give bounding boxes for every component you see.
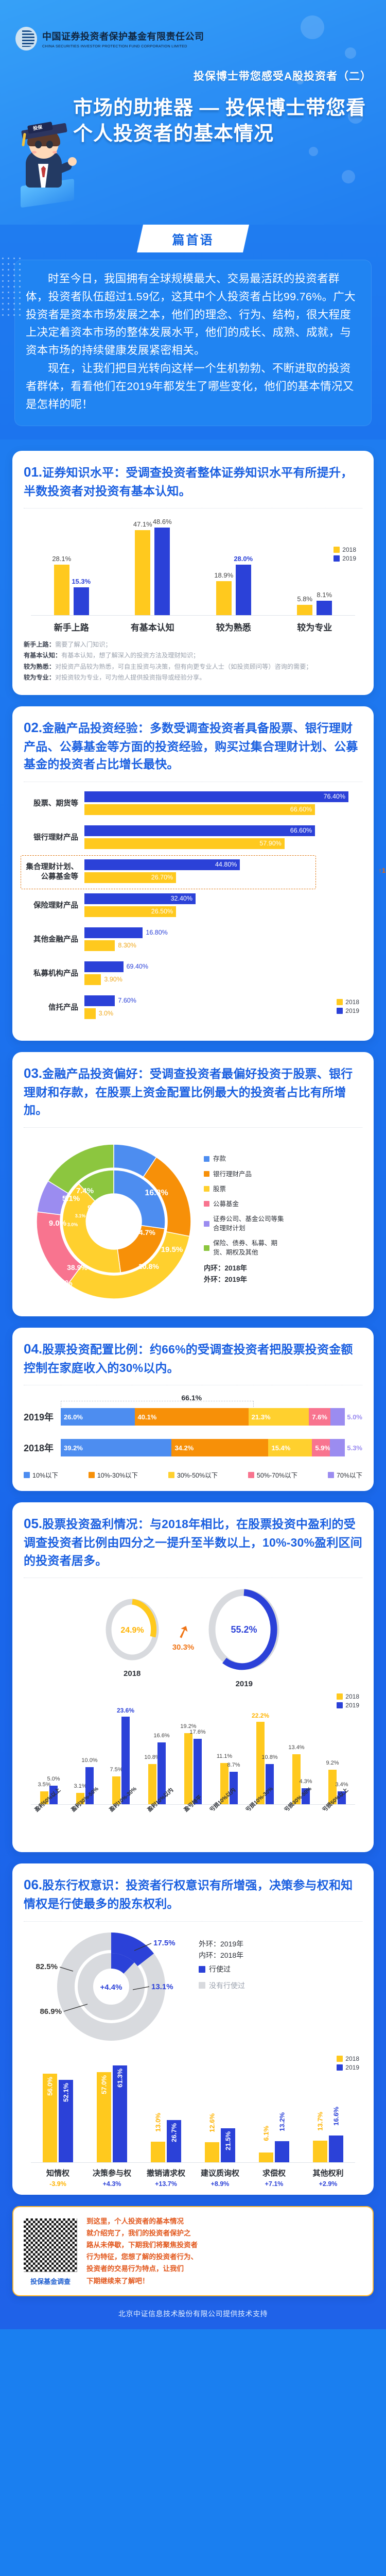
donut-center-label: +4.4% bbox=[100, 1983, 122, 1992]
bar-row: 其他金融产品 16.80% 8.30% bbox=[24, 927, 362, 953]
donut-year: 2019 bbox=[205, 1680, 283, 1688]
slice-label: 20.8% bbox=[138, 1262, 159, 1270]
slice-label: 7.4% bbox=[76, 1187, 94, 1195]
slice-label: 3.0% bbox=[67, 1222, 78, 1227]
hero-header: 中国证券投资者保护基金有限责任公司 CHINA SECURITIES INVES… bbox=[0, 0, 386, 242]
footer-cta: 投保基金调查 到这里，个人投资者的基本情况 就介绍完了，我们的投资者保护之 路从… bbox=[12, 2206, 374, 2296]
divider bbox=[24, 1578, 362, 1578]
chart-06-rights-bars: 56.0% 52.1% 57.0% 61.3% 13.0% 26.7% 12.6… bbox=[24, 2065, 362, 2183]
ring-note: 内环：2018年 外环：2019年 bbox=[204, 1263, 285, 1285]
section-02-title: 02.金融产品投资经验：多数受调查投资者具备股票、银行理财产品、公募基金等方面的… bbox=[24, 718, 362, 773]
copyright-line: 北京中证信息技术股份有限公司提供技术支持 bbox=[0, 2301, 386, 2329]
decorative-bubble bbox=[345, 47, 356, 59]
slice-label: 24.7% bbox=[135, 1228, 155, 1236]
intro-chip: 篇首语 bbox=[137, 225, 249, 252]
chart-06-xaxis: 知情权 决策参与权 撤销请求权 建议质询权 求偿权 其他权利 bbox=[31, 2167, 355, 2178]
brace-annotation: 66.1% bbox=[61, 1396, 362, 1407]
bar-row-highlighted: 集合理财计划、公募基金等 44.80% 26.70% ↑18.10% bbox=[24, 859, 362, 885]
slice-label: 17.5% bbox=[153, 1939, 176, 1947]
donut-2019: 55.2% 2019 bbox=[205, 1587, 283, 1688]
intro-paragraph-2: 现在，让我们把目光转向这样一个生机勃勃、不断进取的投资者群体，看看他们在2019… bbox=[26, 360, 360, 413]
infographic-page: 中国证券投资者保护基金有限责任公司 CHINA SECURITIES INVES… bbox=[0, 0, 386, 2329]
decorative-bubble bbox=[342, 170, 355, 183]
org-name-en: CHINA SECURITIES INVESTOR PROTECTION FUN… bbox=[42, 44, 204, 48]
divider bbox=[24, 1385, 362, 1385]
bar-group: 13.0% 26.7% bbox=[151, 2120, 181, 2162]
donut-chart-03: 16.8% 19.5% 42.2% 9.0% 5.1% 7.4% 24.7% 2… bbox=[24, 1135, 204, 1305]
legend-02: 2018 2019 bbox=[337, 998, 359, 1016]
slice-label: 19.5% bbox=[161, 1245, 183, 1254]
slice-label: 38.9% bbox=[67, 1263, 87, 1272]
legend-06: 外环：2019年 内环：2018年 行使过 没有行使过 bbox=[199, 1929, 245, 1996]
chart-01-knowledge: 28.1% 15.3% 47.1% 48.6% 18.9% 28.0% 5.8%… bbox=[24, 522, 362, 635]
legend-03: 存款 银行理财产品 股票 公募基金 证券公司、基金公司等集合理财计划 保险、债券… bbox=[204, 1154, 285, 1285]
stacked-row: 2018年 39.2% 34.2% 15.4% 5.9% 5.3% bbox=[24, 1439, 362, 1456]
bar-group: 13.7% 16.6% bbox=[313, 2136, 343, 2162]
slice-label: 86.9% bbox=[40, 2007, 62, 2016]
bar-row: 信托产品 7.60% 3.0% bbox=[24, 995, 362, 1021]
section-card-02: 02.金融产品投资经验：多数受调查投资者具备股票、银行理财产品、公募基金等方面的… bbox=[12, 706, 374, 1041]
donut-value: 55.2% bbox=[231, 1624, 257, 1635]
page-title: 市场的助推器 — 投保博士带您看 个人投资者的基本情况 bbox=[73, 95, 377, 147]
section-04-title: 04.股票投资配置比例：约66%的受调查投资者把股票投资金额控制在家庭收入的30… bbox=[24, 1339, 362, 1377]
bar-group: 57.0% 61.3% bbox=[97, 2065, 127, 2162]
intro-card: 时至今日，我国拥有全球规模最大、交易最活跃的投资者群体，投资者队伍超过1.59亿… bbox=[14, 260, 372, 426]
chart-02-experience: 股票、期货等 76.40% 66.60% 银行理财产品 66.60% 57.90… bbox=[24, 791, 362, 1021]
slice-label: 82.5% bbox=[36, 1962, 58, 1971]
donut-year: 2018 bbox=[103, 1669, 161, 1678]
divider bbox=[24, 1127, 362, 1128]
section-card-04: 04.股票投资配置比例：约66%的受调查投资者把股票投资金额控制在家庭收入的30… bbox=[12, 1328, 374, 1492]
bar-row: 私募机构产品 69.40% 3.90% bbox=[24, 961, 362, 987]
bar-group: 47.1% 48.6% bbox=[135, 528, 170, 615]
chart-03-preference: 16.8% 19.5% 42.2% 9.0% 5.1% 7.4% 24.7% 2… bbox=[24, 1135, 362, 1305]
qr-caption: 投保基金调查 bbox=[22, 2276, 79, 2286]
slice-label: 5.1% bbox=[62, 1194, 80, 1203]
legend-04: 10%以下 10%-30%以下 30%-50%以下 50%-70%以下 70%以… bbox=[24, 1470, 362, 1480]
slice-label: 3.1% bbox=[75, 1213, 86, 1218]
divider bbox=[24, 508, 362, 509]
intro-section: 篇首语 时至今日，我国拥有全球规模最大、交易最活跃的投资者群体，投资者队伍超过1… bbox=[0, 225, 386, 439]
org-name-cn: 中国证券投资者保护基金有限责任公司 bbox=[42, 29, 204, 43]
bar-row: 股票、期货等 76.40% 66.60% bbox=[24, 791, 362, 817]
section-01-note: 新手上路：需要了解入门知识； 有基本认知：有基本认知，想了解深入的投资方法及理财… bbox=[24, 639, 362, 683]
bar-group: 56.0% 52.1% bbox=[43, 2074, 73, 2162]
bar-group: 19.2% 17.6% bbox=[184, 1733, 202, 1804]
section-card-03: 03.金融产品投资偏好：受调查投资者最偏好投资于股票、银行理财和存款，在股票上资… bbox=[12, 1052, 374, 1316]
logo-icon bbox=[15, 27, 37, 50]
bar-row: 保险理财产品 32.40% 26.50% bbox=[24, 893, 362, 919]
decorative-bubble bbox=[309, 147, 318, 156]
section-card-06: 06.股东行权意识：投资者行权意识有所增强，决策参与权和知情权是行使最多的股东权… bbox=[12, 1863, 374, 2195]
bar-group: 18.9% 28.0% bbox=[216, 565, 251, 615]
stacked-row: 2019年 26.0% 40.1% 21.3% 7.6% 5.0% bbox=[24, 1408, 362, 1426]
chart-01-xaxis: 新手上路 有基本认知 较为熟悉 较为专业 bbox=[31, 620, 355, 633]
donut-chart-06: +4.4% 17.5% 82.5% 13.1% 86.9% bbox=[24, 1929, 199, 2047]
slice-label: 9.5% bbox=[87, 1204, 104, 1212]
divider bbox=[24, 782, 362, 782]
growth-value: 30.3% bbox=[172, 1643, 195, 1652]
section-05-title: 05.股票投资盈利情况：与2018年相比，在股票投资中盈利的受调查投资者比例由四… bbox=[24, 1514, 362, 1569]
chart-05-profit-donuts: 24.9% 2018 ➚ 30.3% 55.2% 2019 bbox=[24, 1587, 362, 1688]
divider bbox=[24, 1921, 362, 1922]
chart-04-allocation: 66.1% 2019年 26.0% 40.1% 21.3% 7.6% 5.0% … bbox=[24, 1396, 362, 1480]
brand-logo: 中国证券投资者保护基金有限责任公司 CHINA SECURITIES INVES… bbox=[15, 27, 204, 50]
section-03-title: 03.金融产品投资偏好：受调查投资者最偏好投资于股票、银行理财和存款，在股票上资… bbox=[24, 1063, 362, 1119]
qr-code[interactable] bbox=[22, 2216, 79, 2274]
legend-05: 2018 2019 bbox=[337, 1693, 359, 1710]
footer-text: 到这里，个人投资者的基本情况 就介绍完了，我们的投资者保护之 路从未停歇，下期我… bbox=[86, 2215, 198, 2287]
section-card-01: 01.证券知识水平：受调查投资者整体证券知识水平有所提升，半数投资者对投资有基本… bbox=[12, 451, 374, 695]
slice-label: 16.8% bbox=[145, 1189, 168, 1197]
slice-label: 42.2% bbox=[49, 1279, 72, 1288]
chart-06-deltas: -3.9% +4.3% +13.7% +8.9% +7.1% +2.9% bbox=[31, 2180, 355, 2188]
section-06-title: 06.股东行权意识：投资者行权意识有所增强，决策参与权和知情权是行使最多的股东权… bbox=[24, 1875, 362, 1913]
bar-row: 银行理财产品 66.60% 57.90% bbox=[24, 825, 362, 851]
growth-arrow: ➚ 30.3% bbox=[172, 1624, 195, 1652]
bar-group: 12.6% 21.5% bbox=[205, 2128, 235, 2162]
section-card-05: 05.股票投资盈利情况：与2018年相比，在股票投资中盈利的受调查投资者比例由四… bbox=[12, 1502, 374, 1852]
intro-paragraph-1: 时至今日，我国拥有全球规模最大、交易最活跃的投资者群体，投资者队伍超过1.59亿… bbox=[26, 270, 360, 360]
chart-05-profit-bars: 3.5% 5.0% 3.1% 10.0% 7.5% 23.6% 10.8% 16… bbox=[24, 1712, 362, 1841]
chart-06-rights-donut: +4.4% 17.5% 82.5% 13.1% 86.9% 外环：2019年 内… bbox=[24, 1929, 362, 2047]
chart-05-xaxis: 盈利50%以上 盈利30%-50% 盈利10%-30% 盈利10%以内 盈亏持平… bbox=[31, 1808, 355, 1839]
bar-group: 28.1% 15.3% bbox=[54, 565, 89, 615]
donut-value: 24.9% bbox=[120, 1626, 144, 1635]
section-01-title: 01.证券知识水平：受调查投资者整体证券知识水平有所提升，半数投资者对投资有基本… bbox=[24, 462, 362, 500]
decorative-bubble bbox=[301, 15, 324, 39]
mascot-illustration: 投保 bbox=[14, 101, 76, 204]
donut-2018: 24.9% 2018 bbox=[103, 1598, 161, 1678]
hero-kicker: 投保博士带您感受A股投资者（二） bbox=[194, 68, 372, 83]
slice-label: 9.0% bbox=[49, 1219, 66, 1228]
dot-pattern bbox=[0, 256, 21, 317]
slice-label: 13.1% bbox=[151, 1982, 173, 1991]
bar-group: 6.1% 13.2% bbox=[259, 2141, 289, 2162]
bar-group: 5.8% 8.1% bbox=[297, 601, 332, 615]
delta-badge: ↑18.10% bbox=[378, 867, 386, 874]
